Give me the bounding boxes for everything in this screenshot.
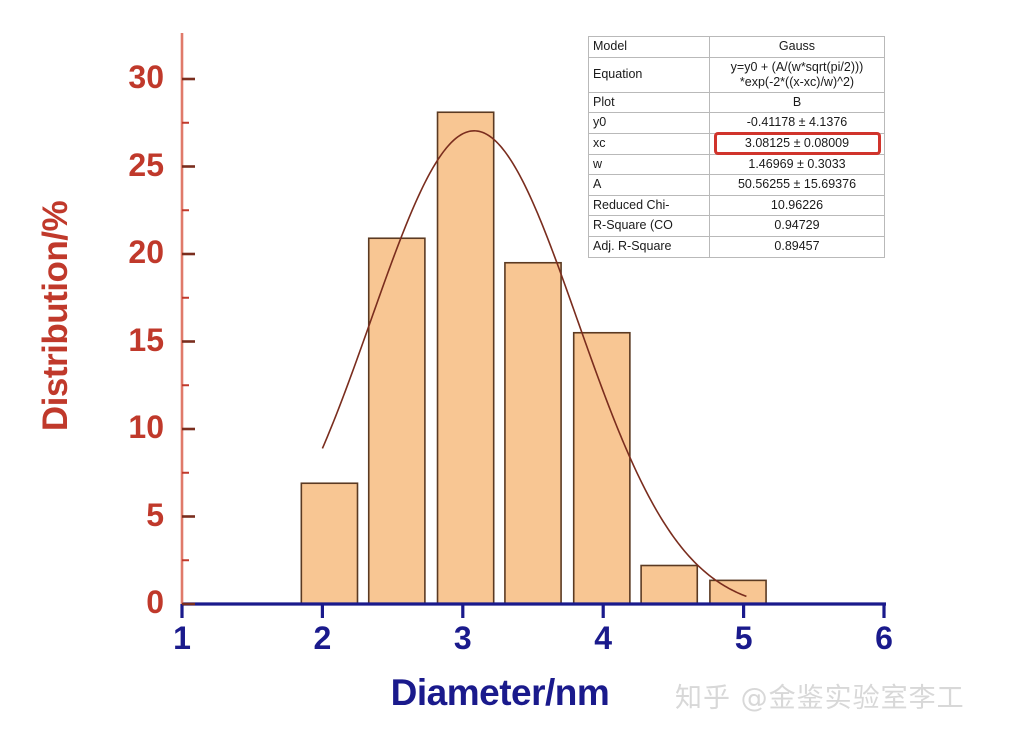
fit-table-value: 0.94729 [710, 216, 885, 237]
fit-table-key: Adj. R-Square [589, 237, 710, 258]
fit-table-key: xc [589, 133, 710, 154]
fit-table-row: Adj. R-Square0.89457 [589, 237, 885, 258]
fit-table-row: PlotB [589, 92, 885, 113]
watermark-text: 知乎 @金鉴实验室李工 [675, 676, 965, 715]
fit-table-key: Reduced Chi- [589, 195, 710, 216]
fit-table-key: w [589, 154, 710, 175]
fit-table-key: Equation [589, 57, 710, 92]
fit-table-value: 3.08125 ± 0.08009 [710, 133, 885, 154]
fit-table-value: 10.96226 [710, 195, 885, 216]
x-tick-label: 1 [162, 622, 202, 654]
fit-table-key: Model [589, 37, 710, 58]
fit-table-row: w1.46969 ± 0.3033 [589, 154, 885, 175]
fit-table-row: y0-0.41178 ± 4.1376 [589, 113, 885, 134]
fit-table-row: R-Square (CO0.94729 [589, 216, 885, 237]
fit-table-row: Reduced Chi-10.96226 [589, 195, 885, 216]
fit-table-row: ModelGauss [589, 37, 885, 58]
fit-table-value: 0.89457 [710, 237, 885, 258]
histogram-bar [505, 263, 561, 604]
histogram-bar [641, 566, 697, 605]
fit-table-row: A50.56255 ± 15.69376 [589, 175, 885, 196]
x-tick-label: 6 [864, 622, 904, 654]
fit-table-key: R-Square (CO [589, 216, 710, 237]
fit-table-value: Gauss [710, 37, 885, 58]
y-tick-label: 25 [104, 149, 164, 181]
fit-table-value: y=y0 + (A/(w*sqrt(pi/2))) *exp(-2*((x-xc… [710, 57, 885, 92]
y-tick-label: 20 [104, 236, 164, 268]
fit-table-value: 1.46969 ± 0.3033 [710, 154, 885, 175]
y-tick-label: 30 [104, 61, 164, 93]
y-tick-label: 15 [104, 324, 164, 356]
histogram-bar [574, 333, 630, 604]
y-tick-label: 5 [104, 499, 164, 531]
fit-table-key: y0 [589, 113, 710, 134]
histogram-bar [369, 238, 425, 604]
fit-table-row: Equationy=y0 + (A/(w*sqrt(pi/2))) *exp(-… [589, 57, 885, 92]
fit-table-value: -0.41178 ± 4.1376 [710, 113, 885, 134]
fit-results-table: ModelGaussEquationy=y0 + (A/(w*sqrt(pi/2… [588, 36, 885, 258]
y-axis-title: Distribution/% [36, 186, 76, 446]
x-tick-label: 4 [583, 622, 623, 654]
x-tick-label: 2 [302, 622, 342, 654]
chart-figure: Distribution/% Diameter/nm 051015202530 … [0, 0, 1024, 732]
x-tick-label: 5 [724, 622, 764, 654]
fit-table-row: xc3.08125 ± 0.08009 [589, 133, 885, 154]
fit-table-key: A [589, 175, 710, 196]
y-tick-label: 0 [104, 586, 164, 618]
fit-table-value: B [710, 92, 885, 113]
fit-table-key: Plot [589, 92, 710, 113]
x-tick-label: 3 [443, 622, 483, 654]
histogram-bar [301, 483, 357, 604]
fit-table-value: 50.56255 ± 15.69376 [710, 175, 885, 196]
x-axis-title: Diameter/nm [330, 672, 670, 714]
histogram-bar [438, 112, 494, 604]
y-tick-label: 10 [104, 411, 164, 443]
